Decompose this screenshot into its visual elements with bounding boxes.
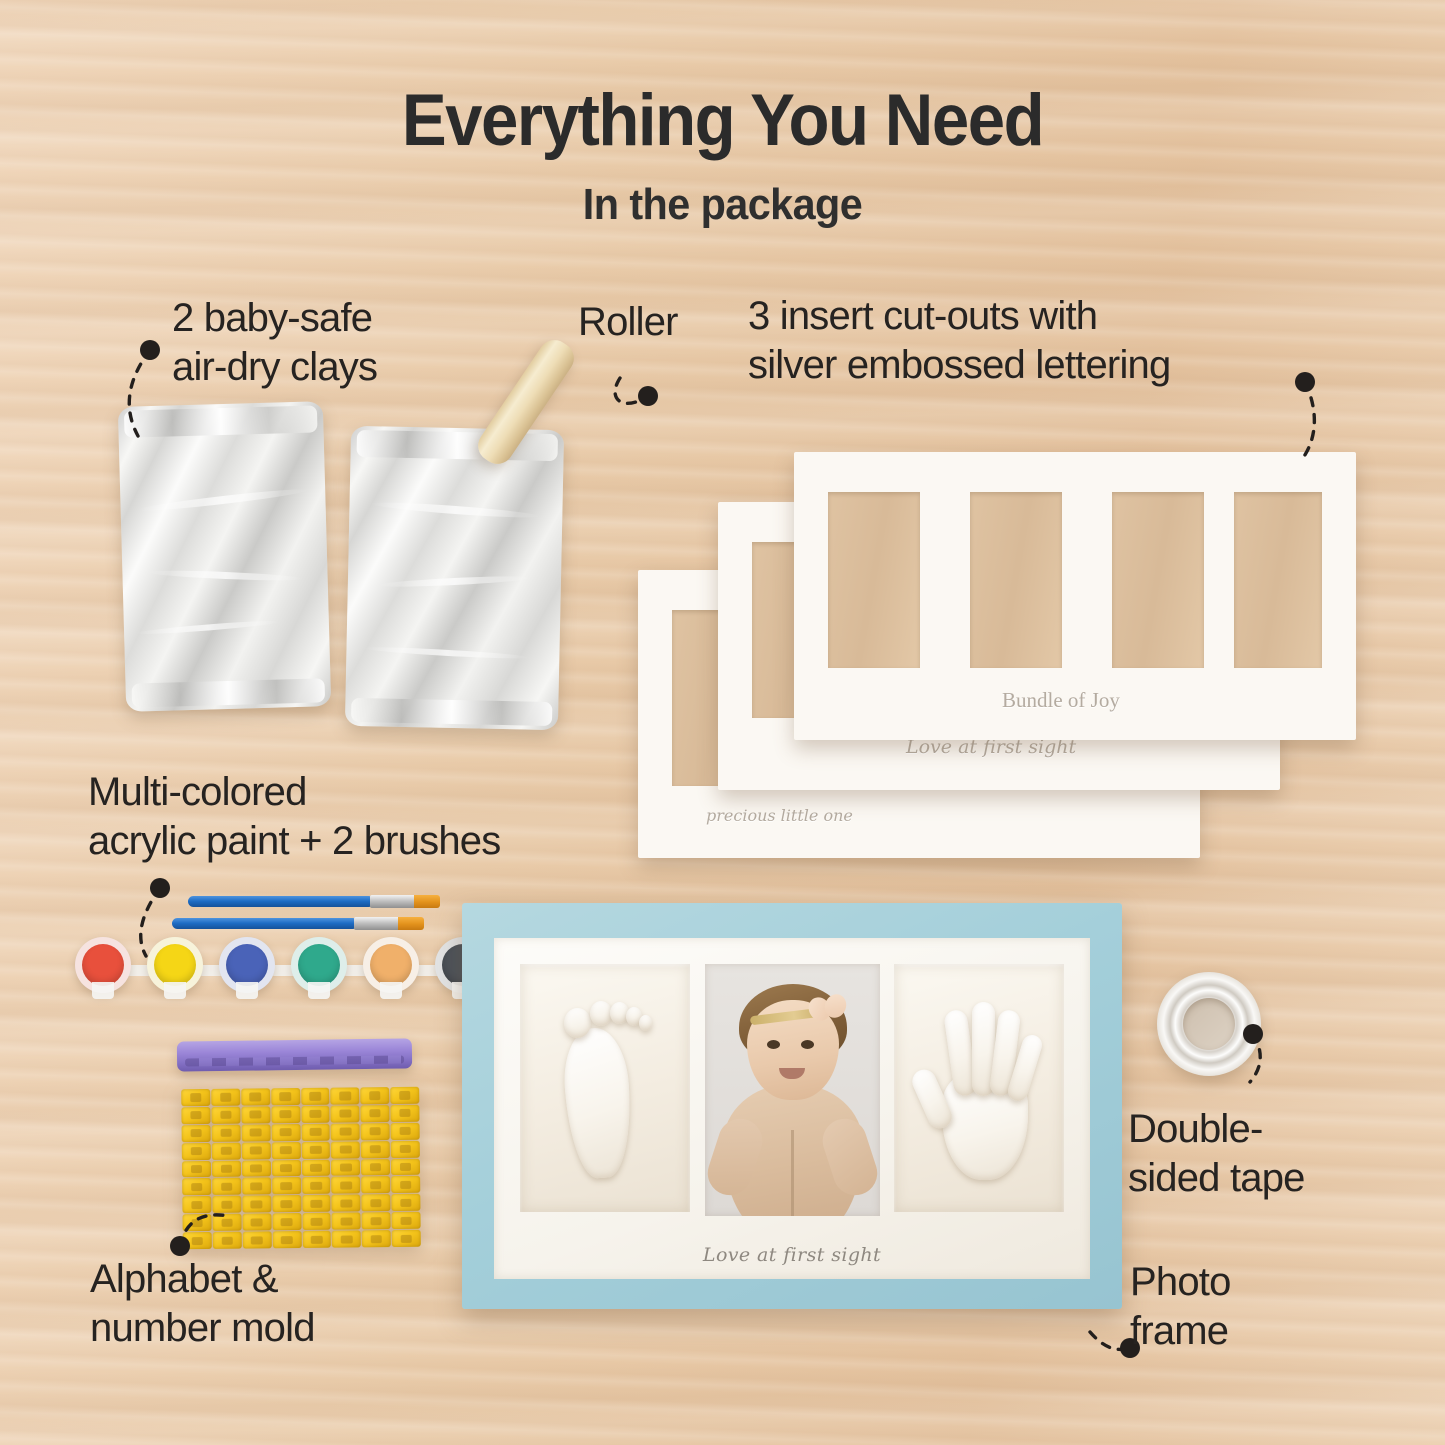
mold-tile — [272, 1231, 301, 1248]
footprint-toe-5 — [639, 1015, 652, 1031]
mold-tile — [331, 1087, 360, 1104]
mold-tile — [331, 1159, 360, 1176]
paint-pot-orange — [363, 937, 419, 993]
mold-tile — [241, 1142, 270, 1159]
mold-tile — [301, 1106, 330, 1123]
footprint-sole — [561, 1026, 635, 1180]
mold-tile — [392, 1212, 421, 1229]
alphabet-number-mold — [181, 1087, 421, 1249]
mold-tile — [301, 1159, 330, 1176]
mold-tile — [362, 1212, 391, 1229]
mold-tile — [272, 1195, 301, 1212]
mold-tile — [213, 1232, 242, 1249]
mold-tile — [271, 1142, 300, 1159]
mold-tile — [361, 1123, 390, 1140]
clay-pouch-2 — [345, 426, 564, 730]
mold-tile — [242, 1196, 271, 1213]
infographic-canvas: Everything You Need In the package preci… — [0, 0, 1445, 1445]
mold-holder-bar — [177, 1038, 412, 1071]
mold-tile — [302, 1177, 331, 1194]
mold-tile — [182, 1196, 211, 1213]
paint-pot-red — [75, 937, 131, 993]
mold-tile — [212, 1142, 241, 1159]
page-subtitle: In the package — [43, 180, 1401, 230]
mold-tile — [212, 1196, 241, 1213]
mold-tile — [182, 1178, 211, 1195]
footprint-toe-2 — [590, 1001, 612, 1026]
mold-tile — [271, 1124, 300, 1141]
mold-tile — [242, 1178, 271, 1195]
mold-tile — [241, 1124, 270, 1141]
mold-tile — [181, 1089, 210, 1106]
mold-tile — [332, 1230, 361, 1247]
baby-photo — [705, 964, 880, 1216]
mold-tile — [362, 1230, 391, 1247]
insert-cutout-3: Bundle of Joy — [794, 452, 1356, 740]
mold-tile — [332, 1213, 361, 1230]
mold-tile — [272, 1213, 301, 1230]
mold-tile — [361, 1141, 390, 1158]
page-title: Everything You Need — [58, 84, 1387, 158]
mold-tile — [361, 1159, 390, 1176]
mold-tile — [301, 1123, 330, 1140]
mold-tile — [272, 1160, 301, 1177]
footprint-toe-1 — [564, 1008, 591, 1038]
mold-tile — [212, 1214, 241, 1231]
callout-label-photo-frame: Photo frame — [1130, 1258, 1231, 1356]
photo-frame: Love at first sight — [462, 903, 1122, 1309]
mold-tile — [390, 1105, 419, 1122]
mold-tile — [362, 1194, 391, 1211]
mold-tile — [242, 1160, 271, 1177]
mold-tile — [391, 1123, 420, 1140]
callout-label-roller: Roller — [578, 298, 678, 347]
frame-mat: Love at first sight — [494, 938, 1090, 1279]
mold-tile — [391, 1158, 420, 1175]
paint-pot-blue — [219, 937, 275, 993]
paint-brush-2 — [172, 918, 424, 929]
mold-tile — [391, 1194, 420, 1211]
callout-label-clay: 2 baby-safe air-dry clays — [172, 294, 377, 392]
frame-caption: Love at first sight — [494, 1244, 1090, 1266]
mold-tile — [392, 1230, 421, 1247]
mold-tile — [302, 1213, 331, 1230]
mold-tile — [331, 1177, 360, 1194]
mold-tile — [301, 1141, 330, 1158]
mold-tile — [211, 1089, 240, 1106]
mold-tile — [182, 1160, 211, 1177]
paint-pot-yellow — [147, 937, 203, 993]
mold-tile — [331, 1123, 360, 1140]
callout-label-paint: Multi-colored acrylic paint + 2 brushes — [88, 768, 500, 866]
mold-tile — [212, 1178, 241, 1195]
callout-label-alphabet-mold: Alphabet & number mold — [90, 1255, 315, 1353]
mold-tile — [271, 1106, 300, 1123]
callout-label-insert: 3 insert cut-outs with silver embossed l… — [748, 292, 1170, 390]
mold-tile — [242, 1214, 271, 1231]
mold-tile — [302, 1231, 331, 1248]
clay-pouch-1 — [118, 401, 331, 712]
mold-tile — [182, 1214, 211, 1231]
footprint-panel — [520, 964, 690, 1212]
mold-tile — [390, 1087, 419, 1104]
mold-tile — [183, 1232, 212, 1249]
callout-label-tape: Double- sided tape — [1128, 1105, 1305, 1203]
mold-tile — [211, 1107, 240, 1124]
mold-tile — [302, 1195, 331, 1212]
mold-tile — [301, 1088, 330, 1105]
mold-tile — [212, 1160, 241, 1177]
baby-eye-left — [767, 1040, 780, 1049]
mold-tile — [181, 1107, 210, 1124]
paint-brush-1 — [188, 896, 440, 907]
baby-eye-right — [801, 1040, 814, 1049]
mold-tile — [182, 1143, 211, 1160]
handprint-panel — [894, 964, 1064, 1212]
mold-tile — [331, 1105, 360, 1122]
mold-tile — [241, 1106, 270, 1123]
mold-tile — [242, 1231, 271, 1248]
paint-pot-teal — [291, 937, 347, 993]
baby-onesie-seam — [791, 1130, 794, 1216]
mold-tile — [211, 1124, 240, 1141]
mold-tile — [391, 1140, 420, 1157]
insert-1-emboss: precious little one — [706, 806, 853, 825]
mold-tile — [361, 1177, 390, 1194]
mold-tile — [331, 1141, 360, 1158]
mold-tile — [271, 1088, 300, 1105]
header-block: Everything You Need In the package — [0, 84, 1445, 230]
mold-tile — [241, 1088, 270, 1105]
mold-tile — [332, 1195, 361, 1212]
mold-tile — [182, 1125, 211, 1142]
mold-tile — [361, 1105, 390, 1122]
baby-hair-bow — [809, 994, 849, 1024]
mold-tile — [391, 1176, 420, 1193]
mold-tile — [360, 1087, 389, 1104]
mold-tile — [272, 1177, 301, 1194]
double-sided-tape-roll — [1157, 972, 1261, 1076]
insert-3-emboss: Bundle of Joy — [1002, 688, 1120, 713]
